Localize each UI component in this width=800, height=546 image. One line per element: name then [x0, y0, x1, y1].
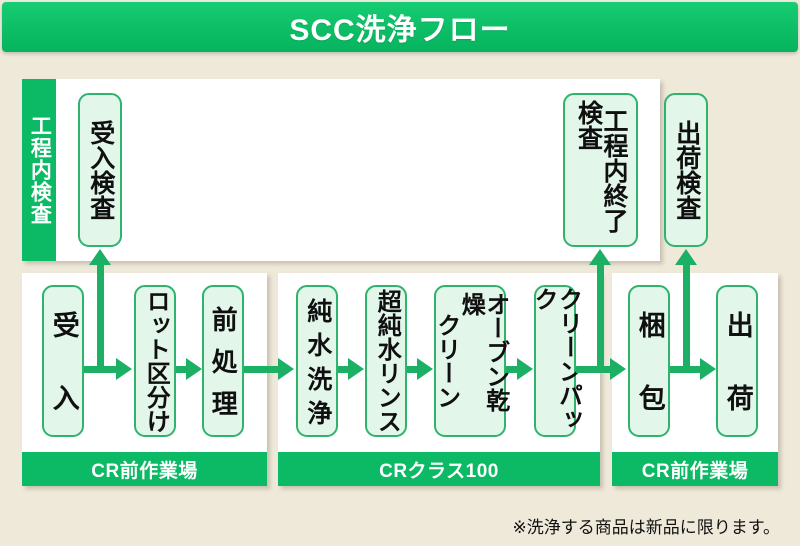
box-step-ultrapure-water-rinse-inner: 超純水リンス — [367, 287, 405, 435]
box-step-ultrapure-water-rinse: 超純水リンス — [365, 285, 407, 437]
group-cr-pre-2-footer-label: CR前作業場 — [642, 456, 748, 483]
box-step-pretreatment-label: 前処理 — [210, 306, 237, 432]
box-step-packing-inner: 梱包 — [630, 287, 668, 435]
inspection-side-label-text: 工程内検査 — [28, 115, 51, 225]
box-step-receiving: 受入 — [42, 285, 84, 437]
group-cr-pre-2-footer: CR前作業場 — [612, 452, 778, 486]
arrow-clean-oven-dry-to-clean-pack — [517, 358, 533, 380]
diagram-root: SCC洗浄フロー 工程内検査 受入検査 工程内終了 検査 出荷検査 CR前作業場… — [0, 0, 800, 546]
page-header: SCC洗浄フロー — [2, 2, 798, 52]
box-shipping-inspection-label: 出荷検査 — [673, 120, 699, 220]
box-incoming-inspection: 受入検査 — [78, 93, 122, 247]
arrow-pure-water-wash-to-rinse — [348, 358, 364, 380]
box-step-clean-pack-inner: クリーンパック — [536, 287, 574, 435]
box-step-pure-water-wash-inner: 純水洗浄 — [298, 287, 336, 435]
box-process-end-inspection-label-left: 検査 — [575, 100, 601, 240]
group-cr-class-100-footer: CRクラス100 — [278, 452, 600, 486]
arrow-up-to-shipping-inspection — [675, 249, 697, 265]
page-title: SCC洗浄フロー — [289, 5, 510, 49]
arrow-rinse-to-clean-oven-dry — [417, 358, 433, 380]
connector-clean-pack-to-packing — [576, 366, 612, 373]
box-step-ultrapure-water-rinse-label: 超純水リンス — [374, 289, 398, 433]
group-cr-pre-1-footer: CR前作業場 — [22, 452, 267, 486]
box-step-pure-water-wash: 純水洗浄 — [296, 285, 338, 437]
footnote: ※洗浄する商品は新品に限ります。 — [512, 513, 780, 538]
arrow-up-to-process-end-inspection — [589, 249, 611, 265]
box-step-pure-water-wash-label: 純水洗浄 — [304, 298, 330, 434]
box-step-packing: 梱包 — [628, 285, 670, 437]
box-step-shipping-inner: 出荷 — [718, 287, 756, 435]
box-process-end-inspection-label-right: 工程内終了 — [601, 100, 627, 240]
box-step-lot-sorting-label: ロット区分け — [143, 289, 167, 433]
box-step-clean-oven-dry: オーブン乾燥 クリーン — [434, 285, 506, 437]
box-incoming-inspection-label: 受入検査 — [87, 120, 113, 220]
connector-up-to-shipping-inspection — [683, 264, 690, 369]
box-process-end-inspection: 工程内終了 検査 — [563, 93, 638, 247]
arrow-pretreatment-to-pure-water-wash — [278, 358, 294, 380]
arrow-lot-sorting-to-pretreatment — [186, 358, 202, 380]
box-step-clean-pack-label: クリーンパック — [531, 287, 580, 435]
arrow-up-to-incoming-inspection — [89, 249, 111, 265]
box-step-receiving-inner: 受入 — [44, 287, 82, 435]
box-step-packing-label: 梱包 — [635, 311, 663, 457]
inspection-side-label: 工程内検査 — [22, 79, 56, 261]
box-step-shipping: 出荷 — [716, 285, 758, 437]
arrow-receiving-to-lot-sorting — [116, 358, 132, 380]
box-step-clean-oven-dry-inner: オーブン乾燥 クリーン — [436, 287, 504, 435]
connector-up-to-incoming-inspection — [97, 264, 104, 369]
box-step-clean-oven-dry-label-right: オーブン乾燥 — [458, 292, 507, 430]
box-step-lot-sorting: ロット区分け — [134, 285, 176, 437]
box-step-clean-pack: クリーンパック — [534, 285, 576, 437]
connector-up-to-process-end-inspection — [597, 264, 604, 369]
box-step-lot-sorting-inner: ロット区分け — [136, 287, 174, 435]
box-shipping-inspection-inner: 出荷検査 — [666, 95, 706, 245]
group-cr-class-100-footer-label: CRクラス100 — [379, 456, 499, 483]
box-step-pretreatment-inner: 前処理 — [204, 287, 242, 435]
box-step-clean-oven-dry-label-left: クリーン — [433, 292, 457, 430]
arrow-packing-to-shipping — [700, 358, 716, 380]
box-incoming-inspection-inner: 受入検査 — [80, 95, 120, 245]
box-step-pretreatment: 前処理 — [202, 285, 244, 437]
box-step-receiving-label: 受入 — [49, 311, 77, 457]
box-process-end-inspection-inner: 工程内終了 検査 — [565, 95, 636, 245]
box-step-shipping-label: 出荷 — [723, 311, 751, 457]
box-shipping-inspection: 出荷検査 — [664, 93, 708, 247]
arrow-clean-pack-to-packing — [610, 358, 626, 380]
connector-pretreatment-to-pure-water-wash — [244, 366, 280, 373]
group-cr-pre-1-footer-label: CR前作業場 — [91, 456, 197, 483]
